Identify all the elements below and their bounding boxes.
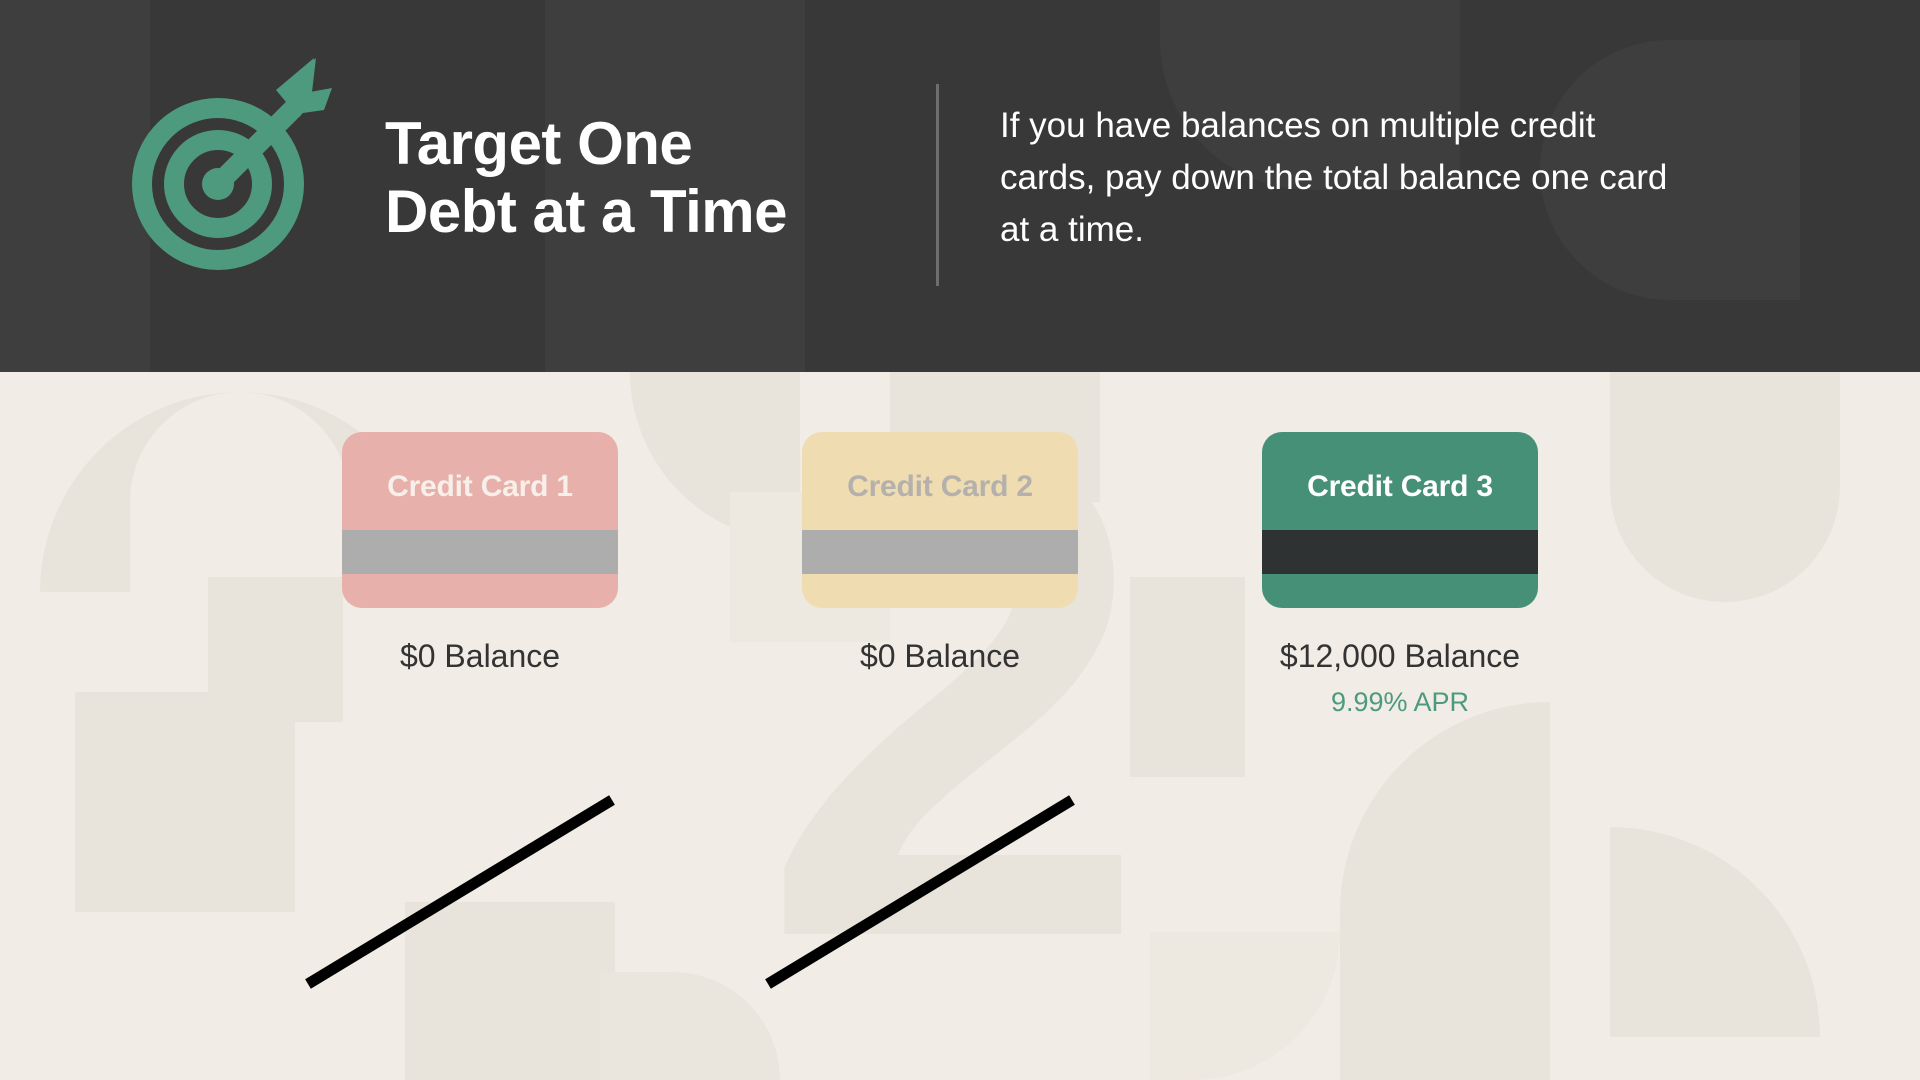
card-apr-text: 9.99% APR	[1230, 687, 1570, 718]
credit-card-item[interactable]: Credit Card 1 $0 Balance	[310, 432, 650, 675]
arrow-pointing-to-active-card	[1120, 1062, 1310, 1080]
main-content: 2 Credit Card 1 $0 Balance Credit Card 2…	[0, 372, 1920, 1080]
card-balance-text: $12,000 Balance	[1230, 638, 1570, 675]
magnetic-stripe	[1262, 530, 1538, 574]
credit-card-item[interactable]: Credit Card 2 $0 Balance	[770, 432, 1110, 675]
credit-card-item[interactable]: Credit Card 3 $12,000 Balance 9.99% APR	[1230, 432, 1570, 718]
strikethrough-line-card-2	[760, 792, 1080, 992]
magnetic-stripe	[802, 530, 1078, 574]
card-balance-text: $0 Balance	[310, 638, 650, 675]
credit-card-label: Credit Card 2	[802, 470, 1078, 504]
page-title: Target One Debt at a Time	[385, 110, 787, 247]
credit-card-label: Credit Card 3	[1262, 470, 1538, 504]
strikethrough-line-card-1	[300, 792, 620, 992]
credit-card-graphic[interactable]: Credit Card 2	[802, 432, 1078, 608]
magnetic-stripe	[342, 530, 618, 574]
credit-card-graphic[interactable]: Credit Card 1	[342, 432, 618, 608]
credit-cards-row: Credit Card 1 $0 Balance Credit Card 2 $…	[0, 372, 1920, 1080]
header-divider	[936, 84, 939, 286]
credit-card-label: Credit Card 1	[342, 470, 618, 504]
header-description: If you have balances on multiple credit …	[1000, 100, 1680, 255]
card-balance-text: $0 Balance	[770, 638, 1110, 675]
header-banner: Target One Debt at a Time If you have ba…	[0, 0, 1920, 372]
target-with-arrow-icon	[118, 52, 336, 270]
credit-card-graphic[interactable]: Credit Card 3	[1262, 432, 1538, 608]
